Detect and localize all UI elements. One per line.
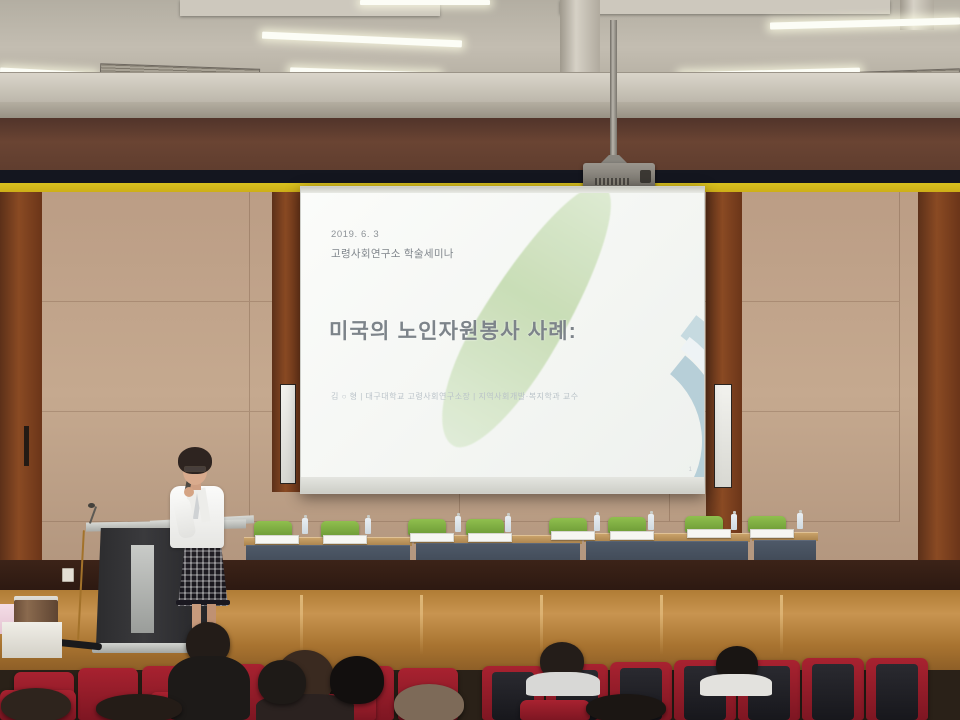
- microphone-icon: [88, 503, 95, 508]
- name-card: [610, 531, 654, 540]
- water-bottle: [455, 516, 461, 532]
- slide-event-name: 고령사회연구소 학술세미나: [331, 246, 454, 261]
- attendee-head: [394, 684, 464, 720]
- floor-reflection: [420, 595, 423, 655]
- name-card: [750, 529, 794, 538]
- wall-tile: [40, 192, 250, 302]
- name-card: [323, 535, 367, 544]
- water-bottle: [505, 516, 511, 532]
- floor-reflection: [540, 595, 543, 655]
- name-card: [687, 529, 731, 538]
- name-card: [551, 531, 595, 540]
- water-bottle: [731, 514, 737, 530]
- attendee-head: [330, 656, 384, 704]
- eyeglasses-icon: [184, 466, 206, 472]
- side-table: [2, 622, 62, 658]
- floor-reflection: [300, 595, 303, 655]
- attendee-head: [96, 694, 182, 720]
- slide-title: 미국의 노인자원봉사 사례:: [329, 315, 577, 345]
- attendee-head: [1, 688, 71, 720]
- screen-bottom-bar: [301, 477, 704, 493]
- slide-date: 2019. 6. 3: [331, 229, 379, 240]
- ceiling-light: [262, 32, 462, 48]
- attendee-shoulders: [526, 672, 600, 696]
- ceiling-beam: [560, 0, 600, 76]
- audience-seat-cushion: [876, 664, 918, 720]
- ceiling: [0, 0, 960, 118]
- water-bottle: [594, 515, 600, 531]
- slide-byline: 김 ○ 형 | 대구대학교 고령사회연구소장 | 지역사회개발·복지학과 교수: [331, 391, 579, 402]
- name-card: [410, 533, 454, 542]
- speaker-hand: [184, 487, 194, 497]
- speaker-skirt-hem: [176, 600, 230, 605]
- attendee-head: [258, 660, 306, 704]
- audience-seat[interactable]: [520, 700, 590, 720]
- floor-reflection: [660, 595, 663, 655]
- slide-page-mark: 1: [689, 467, 692, 473]
- audience-seat-cushion: [812, 664, 854, 720]
- projection-screen[interactable]: 2019. 6. 3 고령사회연구소 학술세미나 미국의 노인자원봉사 사례: …: [300, 186, 705, 494]
- name-card: [468, 533, 512, 542]
- wall-tile: [40, 302, 250, 412]
- name-card: [255, 535, 299, 544]
- floor-reflection: [780, 595, 783, 655]
- auditorium-photo: 2019. 6. 3 고령사회연구소 학술세미나 미국의 노인자원봉사 사례: …: [0, 0, 960, 720]
- projector-vent: [595, 178, 629, 185]
- wall-fixture: [24, 426, 29, 466]
- water-bottle: [648, 514, 654, 530]
- presentation-slide: 2019. 6. 3 고령사회연구소 학술세미나 미국의 노인자원봉사 사례: …: [301, 193, 704, 479]
- speaker-skirt: [178, 544, 228, 606]
- ceiling-light: [360, 0, 490, 5]
- ceiling-soffit: [0, 72, 960, 102]
- attendee-head: [586, 694, 666, 720]
- ceiling-panel: [560, 0, 890, 14]
- projector-lens-icon: [640, 170, 651, 183]
- podium-front-plate: [131, 545, 154, 633]
- water-bottle: [797, 513, 803, 529]
- wall-pilaster: [706, 192, 742, 552]
- wall-light-strip: [280, 384, 296, 484]
- water-bottle: [302, 518, 308, 534]
- projector-pole: [610, 20, 617, 165]
- attendee-shoulders: [700, 674, 772, 696]
- wall-power-outlet: [62, 568, 74, 582]
- wall-light-strip: [714, 384, 732, 488]
- water-bottle: [365, 518, 371, 534]
